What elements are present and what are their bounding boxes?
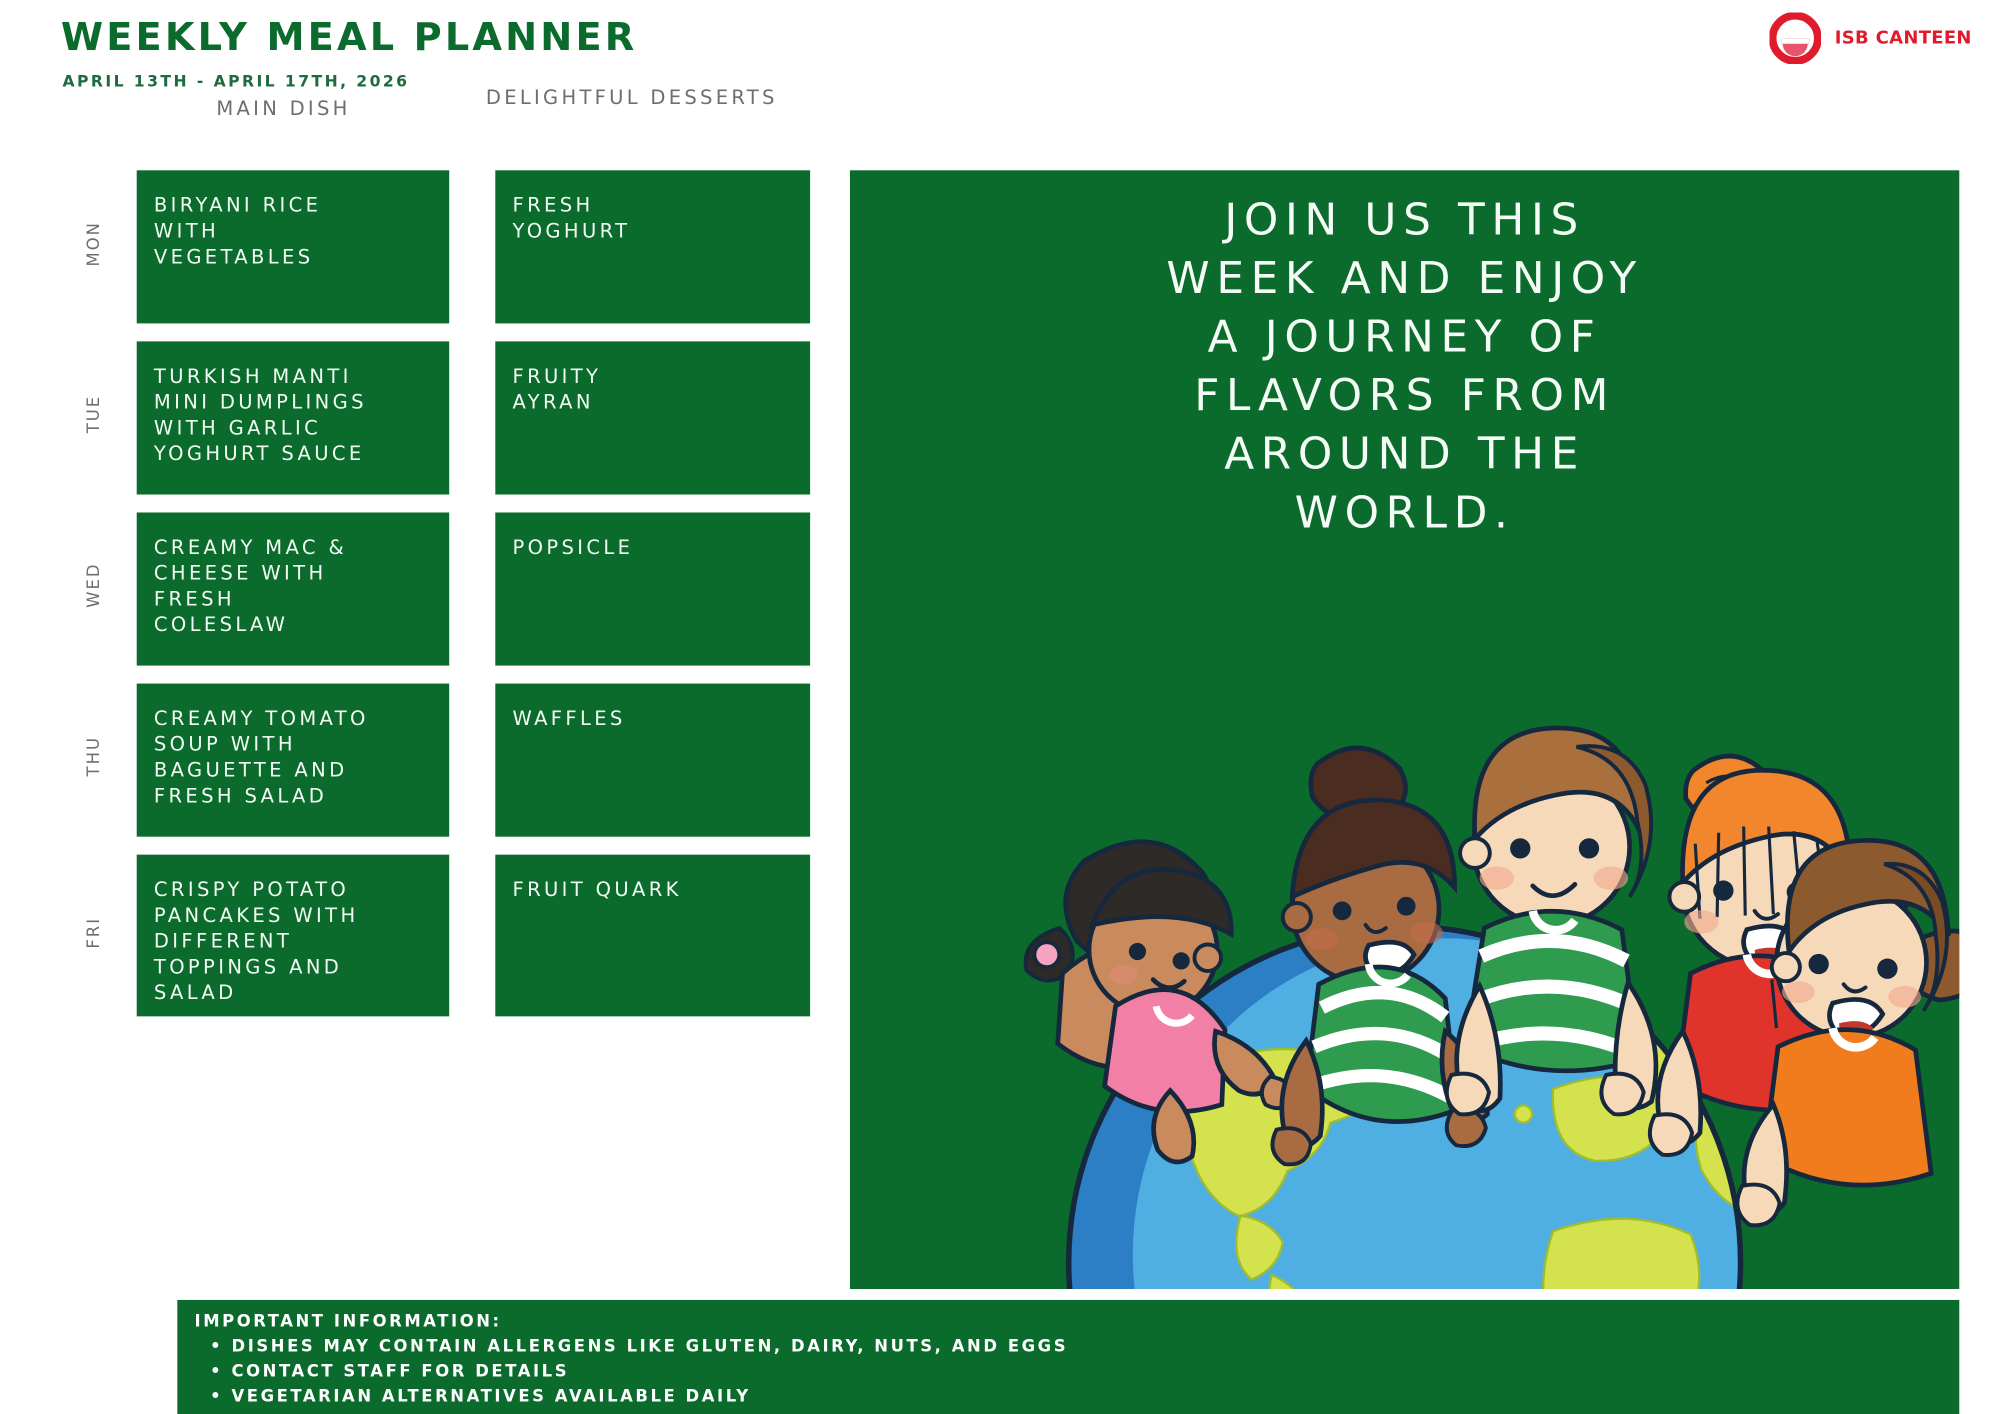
cell-dessert-tue[interactable]: FRUITY AYRAN	[495, 341, 810, 494]
footer-notice: IMPORTANT INFORMATION: DISHES MAY CONTAI…	[177, 1300, 1959, 1414]
cell-text: CREAMY MAC & CHEESE WITH FRESH COLESLAW	[154, 534, 432, 637]
meal-planner-poster: WEEKLY MEAL PLANNER APRIL 13TH - APRIL 1…	[0, 0, 2000, 1414]
cell-main-dish-wed[interactable]: CREAMY MAC & CHEESE WITH FRESH COLESLAW	[137, 512, 449, 665]
promo-panel: JOIN US THIS WEEK AND ENJOY A JOURNEY OF…	[850, 170, 1959, 1289]
day-label-wed: WED	[84, 538, 103, 632]
cell-text: TURKISH MANTI MINI DUMPLINGS WITH GARLIC…	[154, 363, 432, 466]
footer-item: CONTACT STAFF FOR DETAILS	[195, 1359, 1960, 1384]
page-title: WEEKLY MEAL PLANNER	[61, 18, 637, 56]
column-header-desserts: DELIGHTFUL DESSERTS	[486, 86, 778, 109]
brand-name: ISB CANTEEN	[1835, 28, 1972, 48]
cell-dessert-thu[interactable]: WAFFLES	[495, 684, 810, 837]
cell-text: FRESH YOGHURT	[512, 192, 792, 244]
footer-heading: IMPORTANT INFORMATION:	[195, 1309, 1960, 1334]
cell-main-dish-fri[interactable]: CRISPY POTATO PANCAKES WITH DIFFERENT TO…	[137, 855, 449, 1017]
cell-text: BIRYANI RICE WITH VEGETABLES	[154, 192, 432, 269]
cell-text: CRISPY POTATO PANCAKES WITH DIFFERENT TO…	[154, 877, 432, 1006]
cell-text: CREAMY TOMATO SOUP WITH BAGUETTE AND FRE…	[154, 705, 432, 808]
brand-logo: ISB CANTEEN	[1769, 12, 1972, 64]
day-label-fri: FRI	[84, 886, 103, 980]
day-label-mon: MON	[84, 197, 103, 291]
promo-text: JOIN US THIS WEEK AND ENJOY A JOURNEY OF…	[850, 191, 1959, 543]
children-around-globe-illustration	[850, 716, 1959, 1289]
cell-dessert-mon[interactable]: FRESH YOGHURT	[495, 170, 810, 323]
bowl-ring-icon	[1769, 12, 1821, 64]
day-label-thu: THU	[84, 709, 103, 803]
cell-text: FRUITY AYRAN	[512, 363, 792, 415]
cell-dessert-fri[interactable]: FRUIT QUARK	[495, 855, 810, 1017]
cell-text: WAFFLES	[512, 705, 792, 731]
date-range: APRIL 13TH - APRIL 17TH, 2026	[62, 72, 409, 91]
cell-main-dish-tue[interactable]: TURKISH MANTI MINI DUMPLINGS WITH GARLIC…	[137, 341, 449, 494]
column-header-main-dish: MAIN DISH	[216, 97, 350, 120]
cell-dessert-wed[interactable]: POPSICLE	[495, 512, 810, 665]
cell-main-dish-mon[interactable]: BIRYANI RICE WITH VEGETABLES	[137, 170, 449, 323]
day-label-tue: TUE	[84, 367, 103, 461]
footer-item: DISHES MAY CONTAIN ALLERGENS LIKE GLUTEN…	[195, 1334, 1960, 1359]
footer-item: VEGETARIAN ALTERNATIVES AVAILABLE DAILY	[195, 1384, 1960, 1409]
cell-main-dish-thu[interactable]: CREAMY TOMATO SOUP WITH BAGUETTE AND FRE…	[137, 684, 449, 837]
cell-text: POPSICLE	[512, 534, 792, 560]
cell-text: FRUIT QUARK	[512, 877, 792, 903]
